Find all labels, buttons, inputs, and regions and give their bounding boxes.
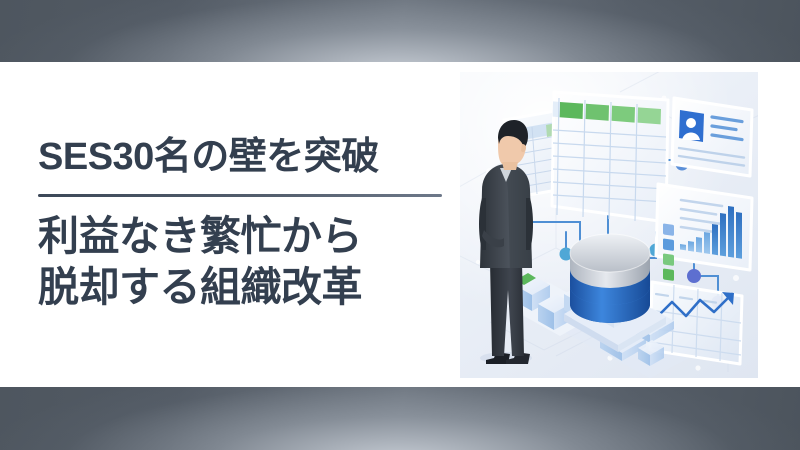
title-divider <box>38 194 442 197</box>
subtitle-line-2: 脱却する組織改革 <box>38 262 440 313</box>
bar-chart-dashboard <box>656 184 752 281</box>
slide-copy-block: SES30名の壁を突破 利益なき繁忙から 脱却する組織改革 <box>0 62 460 387</box>
page-title: SES30名の壁を突破 <box>38 136 440 179</box>
spreadsheet-panel-front <box>552 92 668 222</box>
profile-card <box>672 98 752 176</box>
subtitle-line-1: 利益なき繁忙から <box>38 211 440 262</box>
page-subtitle: 利益なき繁忙から 脱却する組織改革 <box>38 211 440 313</box>
illustration-panel <box>460 72 758 378</box>
database-cylinder <box>570 234 650 323</box>
top-decorative-band <box>0 0 800 62</box>
bottom-decorative-band <box>0 387 800 450</box>
isometric-data-illustration <box>460 72 758 378</box>
